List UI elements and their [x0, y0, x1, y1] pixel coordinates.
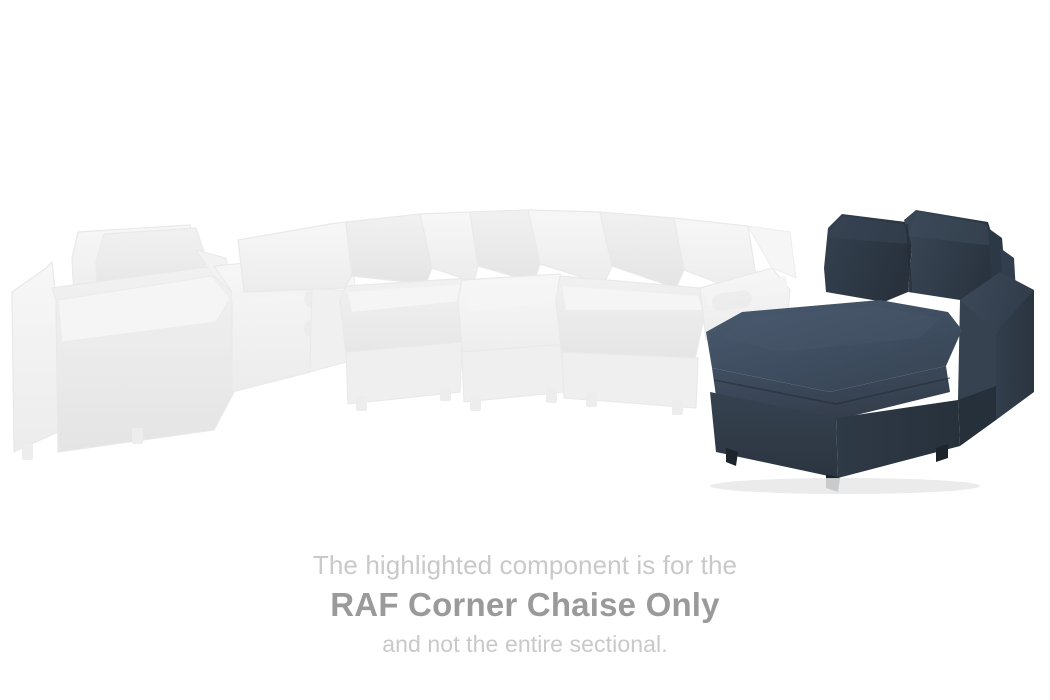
caption-line-3: and not the entire sectional.	[0, 628, 1050, 660]
caption-block: The highlighted component is for the RAF…	[0, 548, 1050, 660]
raf-corner-chaise-highlight	[706, 210, 1034, 494]
caption-line-1: The highlighted component is for the	[0, 548, 1050, 582]
product-image-canvas: The highlighted component is for the RAF…	[0, 0, 1050, 700]
sectional-illustration	[0, 0, 1050, 520]
ghost-sectional	[12, 210, 796, 460]
caption-line-2-component-name: RAF Corner Chaise Only	[0, 582, 1050, 628]
ghost-laf-loveseat	[12, 225, 234, 460]
